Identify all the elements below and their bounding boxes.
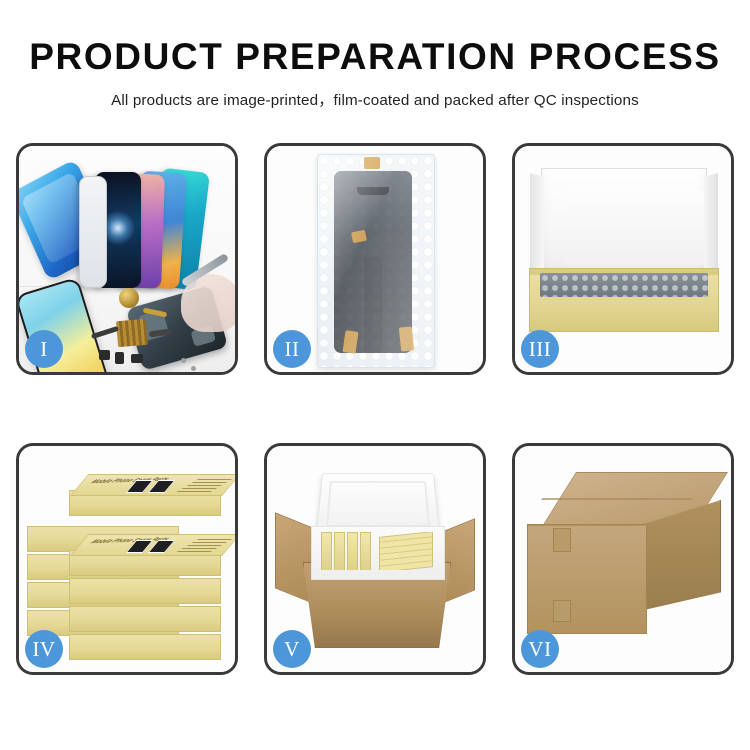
step-badge-4: IV (25, 630, 63, 668)
plastic-gloss-overlay (318, 155, 434, 367)
retail-box-upright (360, 532, 371, 570)
carton-tape-tab (553, 600, 571, 622)
small-chip-icon (99, 350, 110, 360)
process-step-2: II (264, 143, 486, 375)
process-step-3: III (512, 143, 734, 375)
step-badge-3: III (521, 330, 559, 368)
carton-tape-tab (553, 528, 571, 552)
camera-module-icon (119, 288, 139, 308)
retail-box-upper: Mobile Phone Spare Parts (69, 450, 235, 648)
process-step-5: V (264, 443, 486, 675)
carton-top-seam (541, 498, 692, 500)
bubble-wrap-bag (317, 154, 435, 368)
retail-box-top-right: Mobile Phone Spare Parts (69, 490, 221, 516)
header: PRODUCT PREPARATION PROCESS All products… (0, 0, 750, 110)
page-subtitle: All products are image-printed，film-coat… (0, 77, 750, 110)
bubble-wrapped-contents (540, 273, 708, 297)
screw-icon (181, 358, 186, 363)
flex-cable-icon (91, 326, 119, 339)
sealed-carton (527, 472, 719, 640)
retail-box-upright (321, 532, 332, 570)
ic-chip-grid-icon (116, 319, 148, 348)
packed-retail-boxes (321, 532, 433, 570)
box-lid-open (541, 168, 707, 282)
process-step-4: Mobile Phone Spare Parts Mobile Phone Sp… (16, 443, 238, 675)
carton-front-panel (527, 524, 647, 634)
carton-front-seam (527, 524, 645, 526)
retail-box-upright (347, 532, 358, 570)
process-step-1: I (16, 143, 238, 375)
infographic-page: PRODUCT PREPARATION PROCESS All products… (0, 0, 750, 750)
page-title: PRODUCT PREPARATION PROCESS (0, 0, 750, 77)
retail-box-printed-lid: Mobile Phone Spare Parts (70, 474, 235, 496)
box-label-specs-text (176, 478, 233, 492)
open-flat-box (529, 168, 717, 336)
open-carton (277, 470, 473, 646)
screw-icon (191, 366, 196, 371)
process-step-grid: I II (16, 143, 734, 675)
foam-sheet (564, 191, 708, 265)
retail-box-upright (334, 532, 345, 570)
step-badge-6: VI (521, 630, 559, 668)
box-tray-yellow (529, 268, 719, 332)
connector-cable-icon (149, 328, 172, 337)
retail-box-flat-stack (379, 532, 433, 570)
step-badge-1: I (25, 330, 63, 368)
phone-display-white-icon (79, 176, 107, 288)
gold-flex-cable-icon (143, 308, 168, 318)
step-badge-5: V (273, 630, 311, 668)
process-step-6: VI (512, 443, 734, 675)
speaker-module-icon (115, 352, 124, 364)
vibrator-module-icon (131, 354, 143, 363)
step-badge-2: II (273, 330, 311, 368)
